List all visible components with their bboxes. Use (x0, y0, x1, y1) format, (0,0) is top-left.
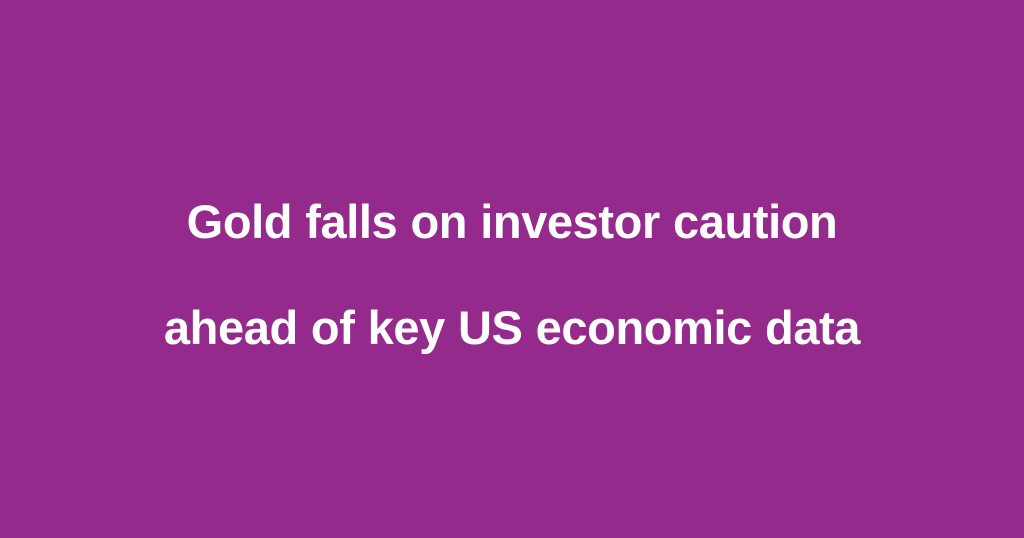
article-share-card: Gold falls on investor caution ahead of … (0, 0, 1024, 538)
headline-line-2: ahead of key US economic data (100, 301, 924, 354)
headline-line-1: Gold falls on investor caution (100, 195, 924, 248)
headline-block: Gold falls on investor caution ahead of … (92, 142, 932, 407)
page-title: Gold falls on investor caution ahead of … (100, 142, 924, 407)
